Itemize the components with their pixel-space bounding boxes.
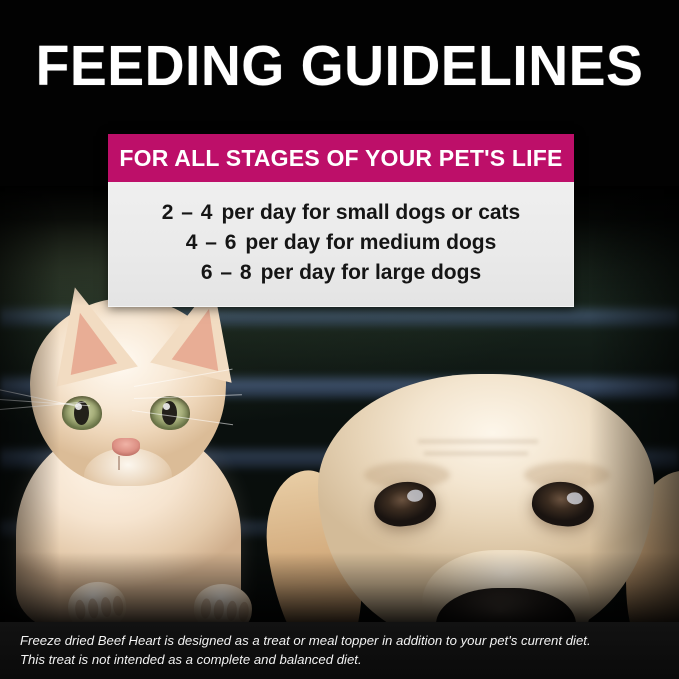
photo-left-fade (0, 186, 60, 622)
disclaimer-bar: Freeze dried Beef Heart is designed as a… (0, 622, 679, 679)
dog-fold (424, 452, 528, 455)
card-body: 2 – 4per day for small dogs or cats 4 – … (108, 182, 574, 307)
guideline-range: 2 – 4 (162, 201, 214, 224)
disclaimer-text: Freeze dried Beef Heart is designed as a… (20, 631, 665, 669)
kitten-eye (150, 396, 190, 430)
kitten-eye (62, 396, 102, 430)
guideline-row: 6 – 8per day for large dogs (119, 258, 563, 288)
guideline-row: 4 – 6per day for medium dogs (119, 228, 563, 258)
guideline-text: per day for small dogs or cats (221, 201, 520, 224)
disclaimer-line-2: This treat is not intended as a complete… (20, 650, 665, 669)
guideline-range: 6 – 8 (201, 261, 253, 284)
feeding-card: FOR ALL STAGES OF YOUR PET'S LIFE 2 – 4p… (108, 134, 574, 307)
guideline-text: per day for large dogs (261, 261, 482, 284)
feeding-guidelines-panel: FEEDING GUIDELINES FOR ALL STAGES OF YOU… (0, 0, 679, 679)
disclaimer-line-1: Freeze dried Beef Heart is designed as a… (20, 631, 665, 650)
photo-right-fade (589, 186, 679, 622)
kitten-mouth (118, 456, 136, 470)
guideline-text: per day for medium dogs (245, 231, 496, 254)
kitten-nose (112, 438, 140, 456)
photo-bottom-fade (0, 552, 679, 622)
card-header: FOR ALL STAGES OF YOUR PET'S LIFE (108, 134, 574, 182)
page-title: FEEDING GUIDELINES (10, 36, 669, 96)
guideline-row: 2 – 4per day for small dogs or cats (119, 198, 563, 228)
dog-fold (418, 440, 538, 443)
guideline-range: 4 – 6 (186, 231, 238, 254)
